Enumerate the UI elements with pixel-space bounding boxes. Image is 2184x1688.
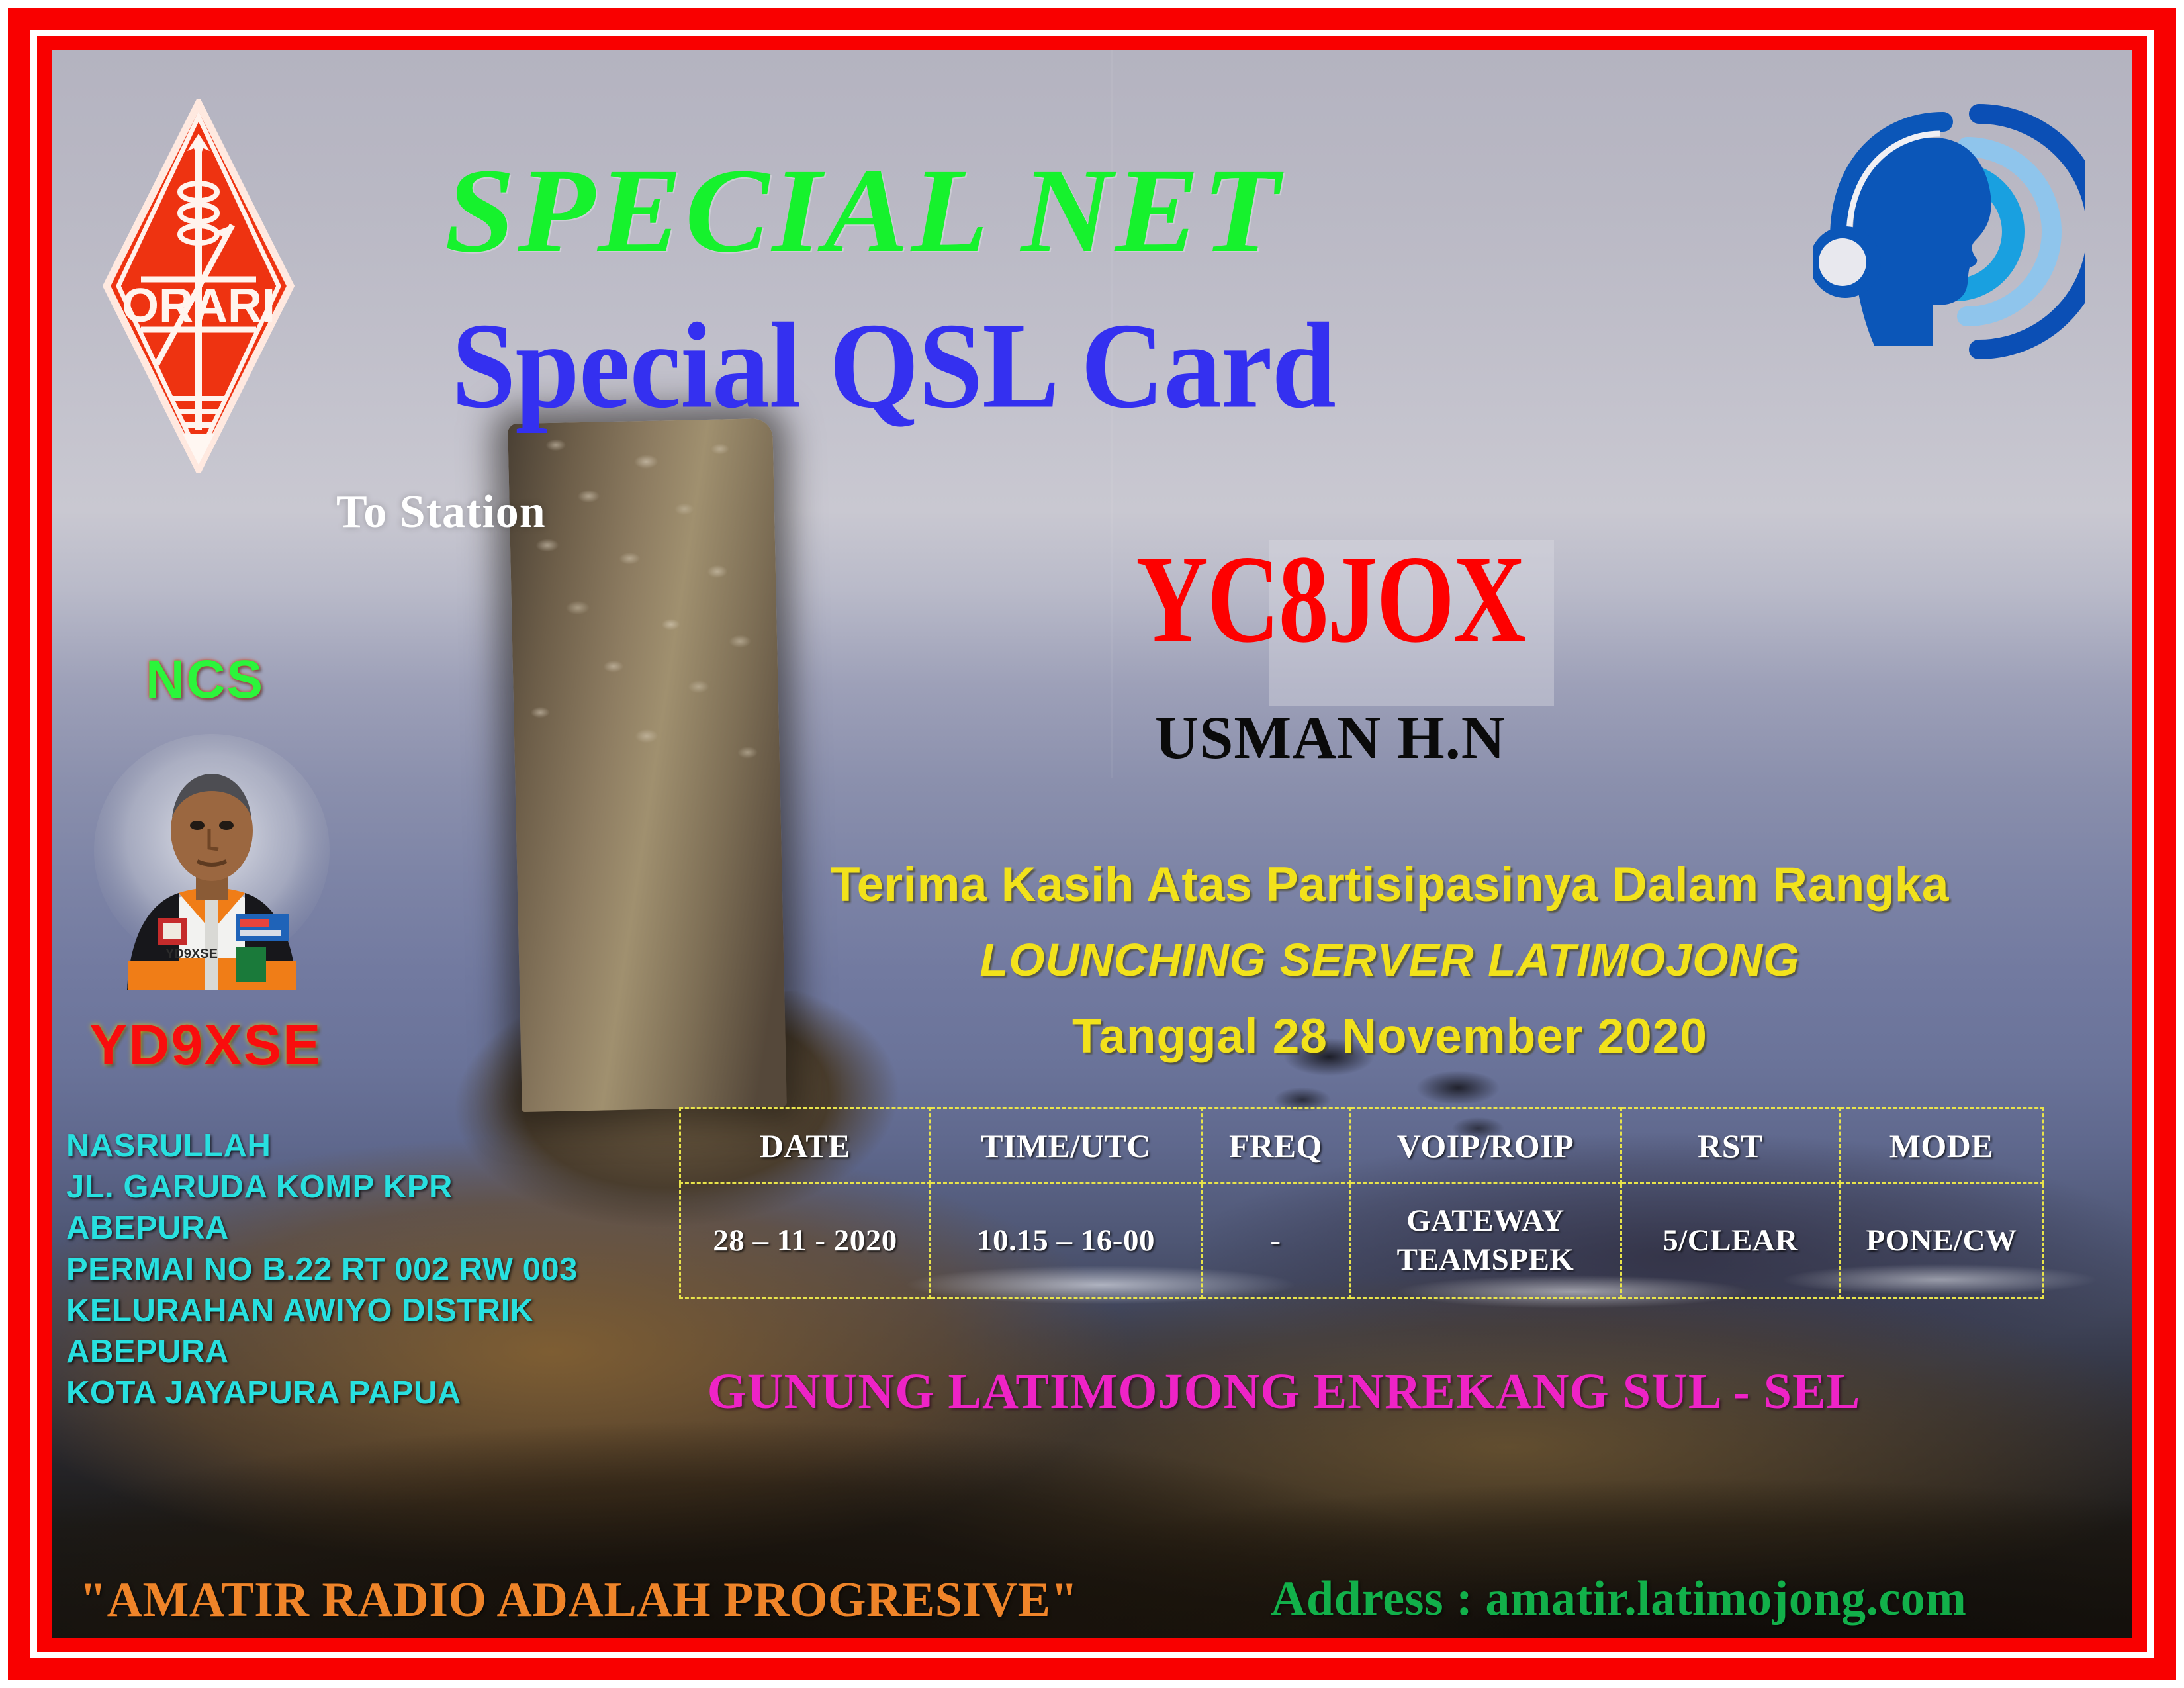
ncs-role-label: NCS [146, 649, 264, 711]
footer-web-address: Address : amatir.latimojong.com [1271, 1571, 1966, 1627]
cell-voip-roip-line2: TEAMSPEK [1351, 1241, 1619, 1280]
mountain-caption: GUNUNG LATIMOJONG ENREKANG SUL - SEL [635, 1363, 1933, 1421]
col-header-mode: MODE [1840, 1109, 2044, 1184]
cell-voip-roip-line1: GATEWAY [1351, 1201, 1619, 1241]
table-header-row: DATE TIME/UTC FREQ VOIP/ROIP RST MODE [680, 1109, 2044, 1184]
subtitle-qsl-card: Special QSL Card [0, 308, 2184, 424]
cell-date: 28 – 11 - 2020 [680, 1184, 931, 1298]
col-header-time-utc: TIME/UTC [931, 1109, 1202, 1184]
title-qsl-card-text: Special QSL Card [451, 305, 1336, 428]
operator-name: USMAN H.N [1006, 707, 1655, 768]
address-line: NASRULLAH [66, 1125, 578, 1166]
col-header-rst: RST [1621, 1109, 1840, 1184]
page-title-special-net: SPECIAL NET [0, 151, 2184, 271]
address-line: JL. GARUDA KOMP KPR [66, 1166, 578, 1207]
qsl-card: ORARI SPECIAL NET [0, 0, 2184, 1688]
event-text-block: Terima Kasih Atas Partisipasinya Dalam R… [715, 861, 2065, 1060]
col-header-date: DATE [680, 1109, 931, 1184]
photo-shirt-callsign: YD9XSE [165, 947, 218, 961]
stone-texture [508, 418, 780, 794]
col-header-voip-roip: VOIP/ROIP [1350, 1109, 1621, 1184]
event-date-line: Tanggal 28 November 2020 [715, 1012, 2065, 1060]
event-title-line: LOUNCHING SERVER LATIMOJONG [715, 937, 2065, 983]
qso-log-table: DATE TIME/UTC FREQ VOIP/ROIP RST MODE 28… [679, 1107, 2044, 1299]
cell-mode: PONE/CW [1840, 1184, 2044, 1298]
event-thanks-line: Terima Kasih Atas Partisipasinya Dalam R… [715, 861, 2065, 909]
col-header-freq: FREQ [1202, 1109, 1350, 1184]
cell-rst: 5/CLEAR [1621, 1184, 1840, 1298]
ncs-operator-photo: YD9XSE [79, 725, 344, 990]
ncs-callsign: YD9XSE [89, 1013, 322, 1078]
address-line: PERMAI NO B.22 RT 002 RW 003 [66, 1249, 578, 1290]
cell-time-utc: 10.15 – 16-00 [931, 1184, 1202, 1298]
to-station-label: To Station [336, 486, 546, 539]
cell-freq: - [1202, 1184, 1350, 1298]
footer-motto: "AMATIR RADIO ADALAH PROGRESIVE" [79, 1572, 1078, 1628]
title-special-net-text: SPECIAL NET [445, 151, 1283, 271]
address-line: KELURAHAN AWIYO DISTRIK [66, 1290, 578, 1331]
mailing-address-block: NASRULLAH JL. GARUDA KOMP KPR ABEPURA PE… [66, 1125, 578, 1414]
address-line: ABEPURA [66, 1207, 578, 1248]
address-line: KOTA JAYAPURA PAPUA [66, 1372, 578, 1413]
address-line: ABEPURA [66, 1331, 578, 1372]
cell-voip-roip: GATEWAY TEAMSPEK [1350, 1184, 1621, 1298]
station-callsign: YC8JOX [1032, 536, 1628, 662]
table-row: 28 – 11 - 2020 10.15 – 16-00 - GATEWAY T… [680, 1184, 2044, 1298]
